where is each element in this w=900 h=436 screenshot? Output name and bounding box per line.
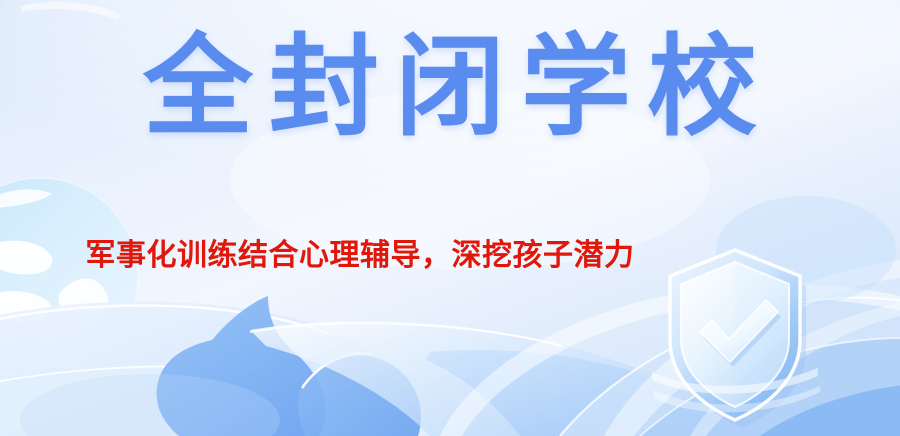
banner-subtitle: 军事化训练结合心理辅导，深挖孩子潜力 xyxy=(0,236,900,275)
banner-text: 全封闭学校 军事化训练结合心理辅导，深挖孩子潜力 xyxy=(0,0,900,436)
promo-banner: 全封闭学校 军事化训练结合心理辅导，深挖孩子潜力 xyxy=(0,0,900,436)
page-title: 全封闭学校 xyxy=(0,26,900,149)
